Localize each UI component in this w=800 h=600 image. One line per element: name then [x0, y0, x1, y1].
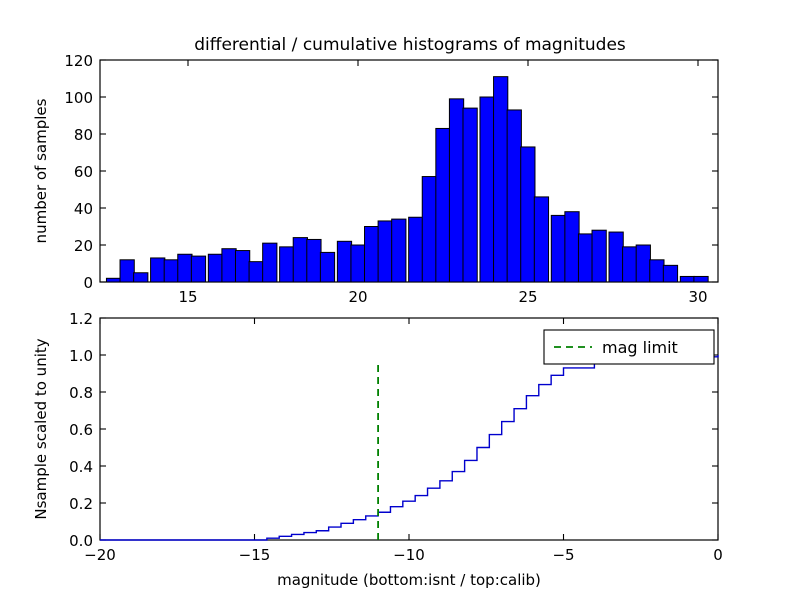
- xaxis-label: magnitude (bottom:isnt / top:calib): [277, 571, 541, 589]
- histogram-bar: [191, 256, 205, 282]
- top-xtick-label-3: 30: [688, 288, 707, 306]
- histogram-bar: [106, 278, 120, 282]
- histogram-bar: [663, 265, 677, 282]
- histogram-bar: [507, 110, 521, 282]
- histogram-bar: [609, 232, 623, 282]
- histogram-bar: [280, 247, 294, 282]
- top-xtick-label-1: 20: [348, 288, 367, 306]
- histogram-bar: [521, 147, 535, 282]
- bottom-ytick-label-2: 0.4: [69, 458, 93, 476]
- histogram-bar: [134, 273, 148, 282]
- figure-title: differential / cumulative histograms of …: [194, 35, 626, 55]
- figure-canvas: differential / cumulative histograms of …: [0, 0, 800, 600]
- histogram-bar: [235, 251, 249, 282]
- histogram-bar: [494, 77, 508, 282]
- top-ytick-label-0: 0: [83, 274, 93, 292]
- histogram-bar: [378, 221, 392, 282]
- top-ytick-label-3: 60: [74, 163, 93, 181]
- histogram-bar: [422, 177, 436, 282]
- bottom-ytick-label-5: 1.0: [69, 347, 93, 365]
- histogram-bar: [178, 254, 192, 282]
- histogram-bar: [337, 241, 351, 282]
- top-xtick-label-0: 15: [178, 288, 197, 306]
- top-ytick-label-1: 20: [74, 237, 93, 255]
- histogram-bar: [208, 254, 222, 282]
- legend[interactable]: mag limit: [544, 330, 714, 364]
- histogram-bar: [463, 108, 477, 282]
- histogram-bar: [222, 249, 236, 282]
- histogram-bar: [320, 252, 334, 282]
- histogram-bar: [565, 212, 579, 282]
- bottom-ytick-label-3: 0.6: [69, 421, 93, 439]
- histogram-bar: [293, 238, 307, 282]
- bottom-xtick-label-4: 0: [713, 546, 723, 564]
- bottom-xtick-label-1: −15: [239, 546, 271, 564]
- bottom-ylabel: Nsample scaled to unity: [32, 338, 50, 519]
- histogram-bar: [307, 239, 321, 282]
- bottom-ytick-label-1: 0.2: [69, 495, 93, 513]
- matplotlib-figure: differential / cumulative histograms of …: [0, 0, 800, 600]
- histogram-bar: [534, 197, 548, 282]
- histogram-bar: [365, 227, 379, 283]
- histogram-bar: [480, 97, 494, 282]
- bottom-ytick-label-4: 0.8: [69, 384, 93, 402]
- bottom-xtick-label-3: −5: [552, 546, 574, 564]
- histogram-bar: [680, 276, 694, 282]
- histogram-bar: [578, 234, 592, 282]
- top-ytick-label-4: 80: [74, 126, 93, 144]
- histogram-bar: [449, 99, 463, 282]
- histogram-bar: [623, 247, 637, 282]
- top-ylabel: number of samples: [32, 98, 50, 243]
- histogram-bar: [392, 219, 406, 282]
- bottom-xtick-label-0: −20: [84, 546, 116, 564]
- top-ytick-label-2: 40: [74, 200, 93, 218]
- histogram-bar: [120, 260, 134, 282]
- histogram-bar: [436, 128, 450, 282]
- histogram-bar: [636, 245, 650, 282]
- figure-background: [0, 0, 800, 600]
- histogram-bar: [409, 217, 423, 282]
- bottom-xtick-label-2: −10: [393, 546, 425, 564]
- histogram-bar: [164, 260, 178, 282]
- histogram-bar: [151, 258, 165, 282]
- histogram-bar: [650, 260, 664, 282]
- histogram-bar: [694, 276, 708, 282]
- top-ytick-label-6: 120: [64, 52, 93, 70]
- histogram-bar: [592, 230, 606, 282]
- top-xtick-label-2: 25: [518, 288, 537, 306]
- top-ytick-label-5: 100: [64, 89, 93, 107]
- legend-label-mag-limit: mag limit: [602, 338, 678, 357]
- bottom-ytick-label-6: 1.2: [69, 310, 93, 328]
- histogram-bar: [249, 262, 263, 282]
- histogram-bar: [263, 243, 277, 282]
- histogram-bar: [351, 245, 365, 282]
- histogram-bar: [551, 215, 565, 282]
